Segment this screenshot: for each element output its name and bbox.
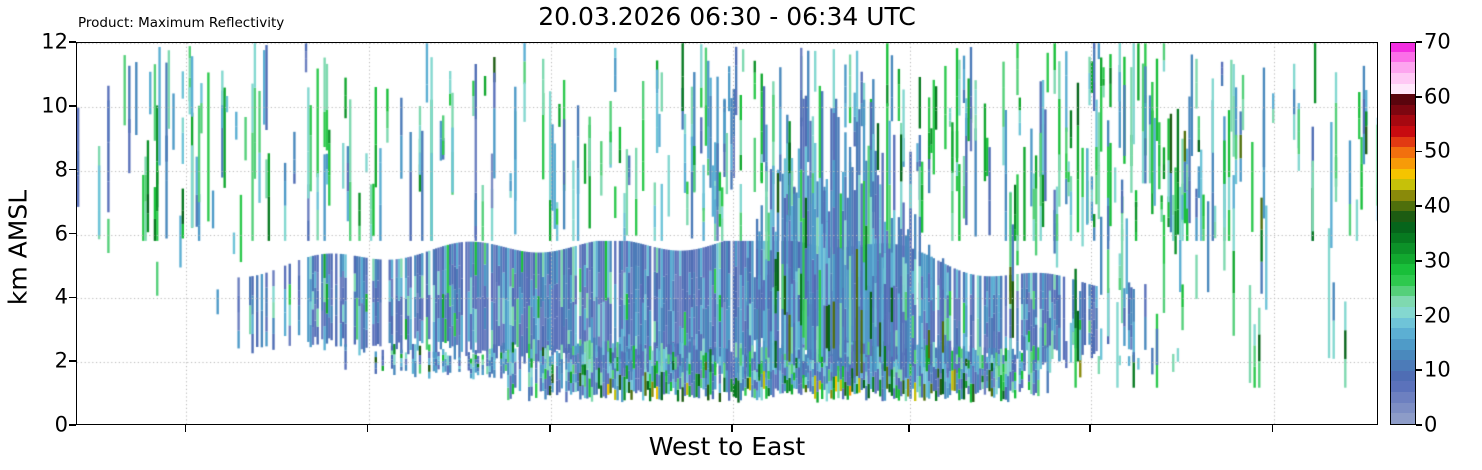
colorbar-segment xyxy=(1391,62,1415,73)
colorbar-segment xyxy=(1391,338,1415,349)
colorbar-segment xyxy=(1391,274,1415,285)
y-tick-mark xyxy=(69,297,76,299)
radar-cross-section-figure: 20.03.2026 06:30 - 06:34 UTC Product: Ma… xyxy=(0,0,1482,470)
colorbar: 010203040506070 xyxy=(1390,42,1416,425)
colorbar-segment xyxy=(1391,136,1415,147)
colorbar-tick-mark xyxy=(1416,369,1422,371)
colorbar-segment xyxy=(1391,402,1415,413)
colorbar-tick-label: 60 xyxy=(1424,86,1451,107)
colorbar-segment xyxy=(1391,51,1415,62)
y-tick-label: 0 xyxy=(8,415,68,436)
x-tick-mark xyxy=(1089,425,1091,432)
colorbar-segment xyxy=(1391,317,1415,328)
colorbar-segment xyxy=(1391,328,1415,339)
plot-area xyxy=(76,42,1378,425)
colorbar-segment xyxy=(1391,232,1415,243)
y-tick-mark xyxy=(69,41,76,43)
product-label: Product: Maximum Reflectivity xyxy=(78,15,284,31)
y-axis-label: km AMSL xyxy=(4,168,33,328)
colorbar-tick-label: 0 xyxy=(1424,415,1437,436)
colorbar-segment xyxy=(1391,189,1415,200)
colorbar-segment xyxy=(1391,200,1415,211)
colorbar-tick-mark xyxy=(1416,96,1422,98)
colorbar-segment xyxy=(1391,306,1415,317)
colorbar-segment xyxy=(1391,391,1415,402)
colorbar-tick-label: 30 xyxy=(1424,250,1451,271)
y-tick-label: 12 xyxy=(8,32,68,53)
colorbar-segment xyxy=(1391,253,1415,264)
colorbar-segment xyxy=(1391,168,1415,179)
y-tick-label: 10 xyxy=(8,95,68,116)
colorbar-tick-label: 40 xyxy=(1424,196,1451,217)
x-tick-mark xyxy=(731,425,733,432)
y-tick-mark xyxy=(69,424,76,426)
colorbar-segment xyxy=(1391,296,1415,307)
colorbar-segment xyxy=(1391,104,1415,115)
colorbar-segment xyxy=(1391,242,1415,253)
x-tick-mark xyxy=(1272,425,1274,432)
colorbar-tick-mark xyxy=(1416,151,1422,153)
colorbar-segment xyxy=(1391,264,1415,275)
y-tick-mark xyxy=(69,233,76,235)
colorbar-segment xyxy=(1391,147,1415,158)
colorbar-tick-mark xyxy=(1416,315,1422,317)
x-tick-mark xyxy=(908,425,910,432)
colorbar-segment xyxy=(1391,413,1415,424)
colorbar-tick-label: 50 xyxy=(1424,141,1451,162)
colorbar-tick-mark xyxy=(1416,260,1422,262)
colorbar-segment xyxy=(1391,359,1415,370)
x-tick-mark xyxy=(185,425,187,432)
y-tick-mark xyxy=(69,360,76,362)
y-tick-label: 2 xyxy=(8,351,68,372)
colorbar-tick-label: 10 xyxy=(1424,360,1451,381)
colorbar-segment xyxy=(1391,370,1415,381)
colorbar-segment xyxy=(1391,157,1415,168)
colorbar-segment xyxy=(1391,349,1415,360)
colorbar-tick-mark xyxy=(1416,424,1422,426)
colorbar-segment xyxy=(1391,72,1415,83)
colorbar-segment xyxy=(1391,381,1415,392)
x-tick-mark xyxy=(367,425,369,432)
colorbar-segment xyxy=(1391,94,1415,105)
colorbar-tick-label: 70 xyxy=(1424,32,1451,53)
colorbar-segment xyxy=(1391,125,1415,136)
colorbar-tick-mark xyxy=(1416,41,1422,43)
colorbar-segment xyxy=(1391,115,1415,126)
y-tick-mark xyxy=(69,169,76,171)
y-tick-mark xyxy=(69,105,76,107)
colorbar-tick-label: 20 xyxy=(1424,305,1451,326)
colorbar-segment xyxy=(1391,83,1415,94)
colorbar-segment xyxy=(1391,285,1415,296)
x-tick-mark xyxy=(549,425,551,432)
colorbar-gradient xyxy=(1390,42,1416,425)
colorbar-tick-mark xyxy=(1416,205,1422,207)
colorbar-segment xyxy=(1391,211,1415,222)
colorbar-segment xyxy=(1391,221,1415,232)
colorbar-segment xyxy=(1391,179,1415,190)
colorbar-segment xyxy=(1391,42,1415,52)
x-axis-label: West to East xyxy=(76,432,1378,461)
reflectivity-heatmap xyxy=(77,43,1378,425)
